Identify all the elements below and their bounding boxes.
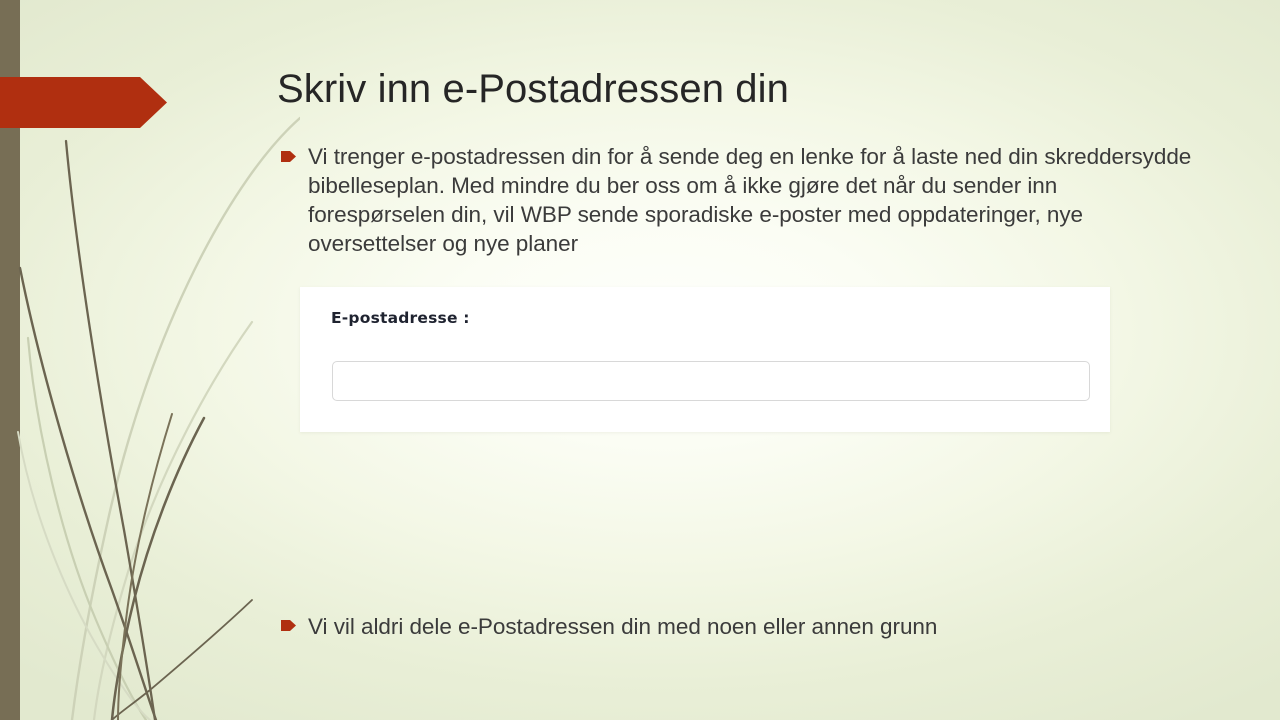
bullet-item-bottom: Vi vil aldri dele e-Postadressen din med… bbox=[281, 612, 1181, 641]
bullet-text-top: Vi trenger e-postadressen din for å send… bbox=[308, 142, 1196, 258]
presentation-slide: Skriv inn e-Postadressen din Vi trenger … bbox=[0, 0, 1280, 720]
red-arrow-banner-icon bbox=[0, 77, 167, 128]
red-arrow-bullet-icon bbox=[281, 620, 296, 631]
bullet-item-top: Vi trenger e-postadressen din for å send… bbox=[281, 142, 1196, 258]
email-field-label: E-postadresse : bbox=[331, 309, 470, 327]
email-form-card: E-postadresse : bbox=[300, 287, 1110, 432]
slide-title: Skriv inn e-Postadressen din bbox=[277, 66, 1217, 113]
red-arrow-bullet-icon bbox=[281, 151, 296, 162]
email-input[interactable] bbox=[332, 361, 1090, 401]
bullet-text-bottom: Vi vil aldri dele e-Postadressen din med… bbox=[308, 612, 937, 641]
